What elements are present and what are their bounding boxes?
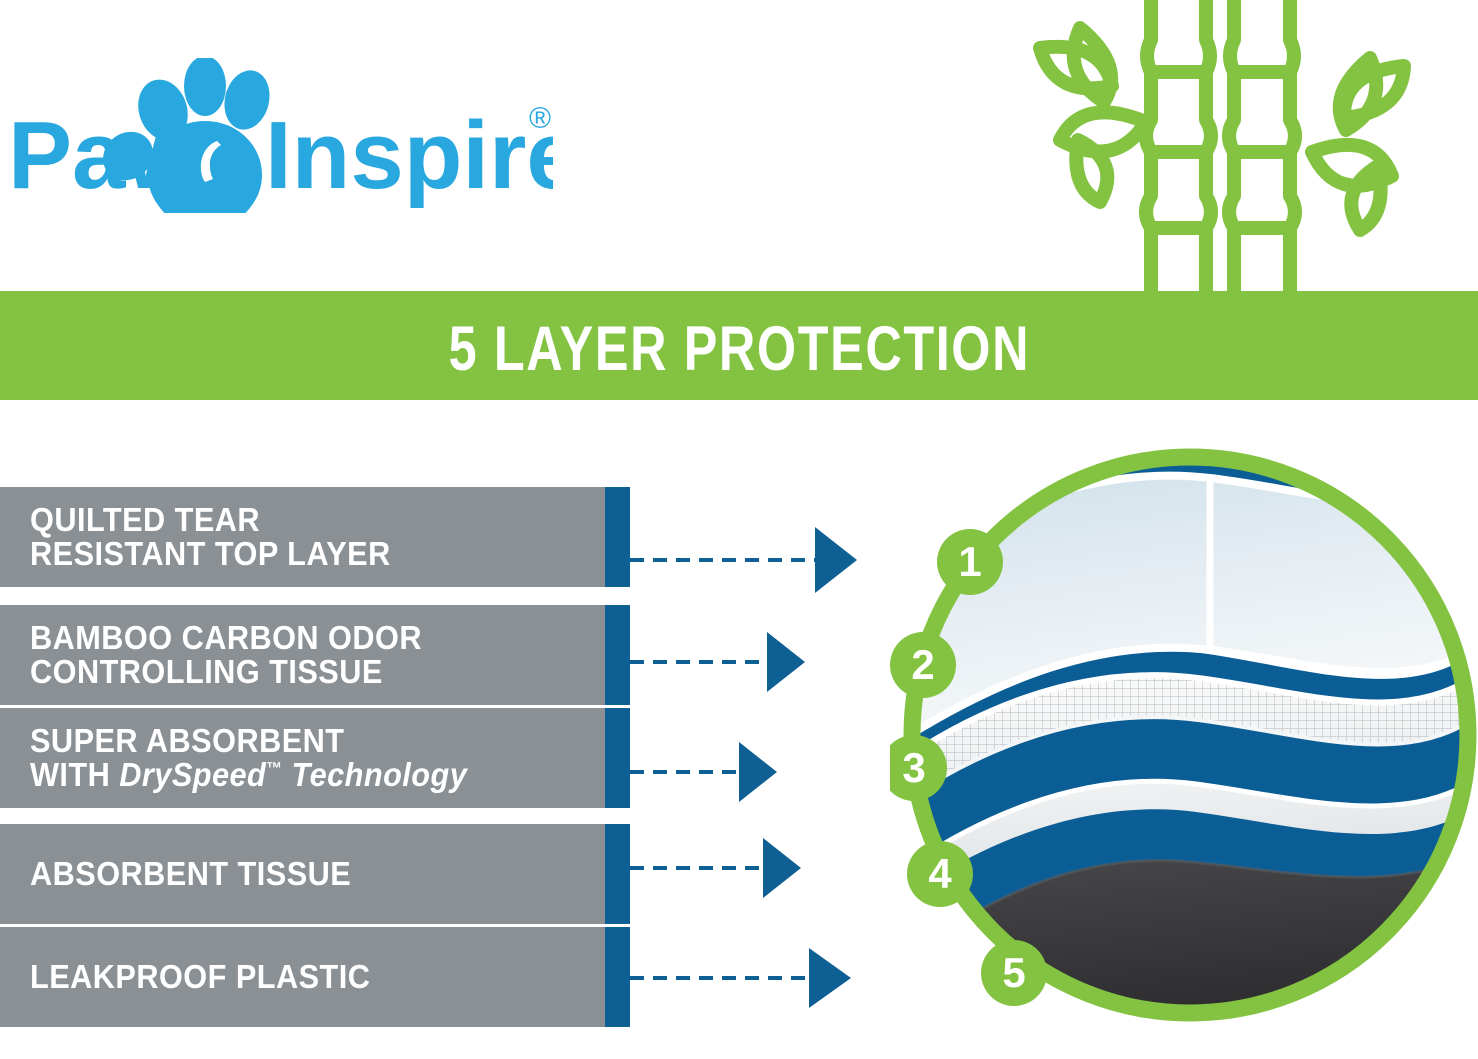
badge-5: 5: [981, 940, 1047, 1006]
brand-logo[interactable]: Paw Inspired ®: [8, 58, 553, 213]
connector-arrow-1: [630, 527, 857, 593]
bar-end-cap: [605, 487, 630, 587]
connector-arrow-5: [630, 948, 851, 1008]
connector-arrow-4: [630, 838, 801, 898]
registered-mark: ®: [529, 102, 551, 135]
logo-word-inspired: Inspired: [265, 102, 553, 209]
badge-label: 2: [911, 641, 934, 688]
badge-1: 1: [937, 529, 1003, 595]
badge-label: 5: [1002, 949, 1025, 996]
logo-word-paw: Paw: [8, 102, 200, 209]
bar-end-cap: [605, 605, 630, 705]
connector-arrow-2: [630, 632, 805, 692]
layer-label-2: BAMBOO CARBON ODOR CONTROLLING TISSUE: [30, 605, 590, 705]
header: Paw Inspired ®: [0, 0, 1478, 305]
bar-end-cap: [605, 708, 630, 808]
badge-label: 1: [958, 538, 981, 585]
trademark-mark: ™: [266, 759, 282, 778]
bar-end-cap: [605, 927, 630, 1027]
badge-label: 4: [928, 850, 952, 897]
badge-label: 3: [902, 744, 925, 791]
label-line: SUPER ABSORBENT: [30, 724, 551, 758]
layer-label-1: QUILTED TEAR RESISTANT TOP LAYER: [30, 487, 590, 587]
label-line: BAMBOO CARBON ODOR: [30, 621, 551, 655]
label-line: RESISTANT TOP LAYER: [30, 537, 551, 571]
layer-label-3: SUPER ABSORBENT WITH DrySpeed™ Technolog…: [30, 708, 590, 808]
page-title: 5 LAYER PROTECTION: [448, 318, 1029, 385]
label-part-dryspeed: DrySpeed: [119, 756, 266, 793]
section-banner: 5 LAYER PROTECTION: [0, 303, 1478, 400]
label-part-technology: Technology: [283, 756, 468, 793]
bamboo-icon: [1020, 0, 1440, 305]
label-line: LEAKPROOF PLASTIC: [30, 960, 551, 994]
label-line-composite: WITH DrySpeed™ Technology: [30, 758, 551, 792]
layer-label-5: LEAKPROOF PLASTIC: [30, 927, 590, 1027]
layer-label-list: QUILTED TEAR RESISTANT TOP LAYER BAMBOO …: [0, 487, 640, 1017]
bar-end-cap: [605, 824, 630, 924]
label-line: ABSORBENT TISSUE: [30, 857, 551, 891]
badge-4: 4: [907, 841, 973, 907]
layer-label-4: ABSORBENT TISSUE: [30, 824, 590, 924]
badge-2: 2: [890, 632, 956, 698]
label-part-with: WITH: [30, 756, 119, 793]
exploded-layer-stack-illustration: 1 2 3 4 5: [890, 440, 1478, 1040]
label-line: QUILTED TEAR: [30, 503, 551, 537]
label-line: CONTROLLING TISSUE: [30, 655, 551, 689]
connector-arrow-3: [630, 742, 777, 802]
